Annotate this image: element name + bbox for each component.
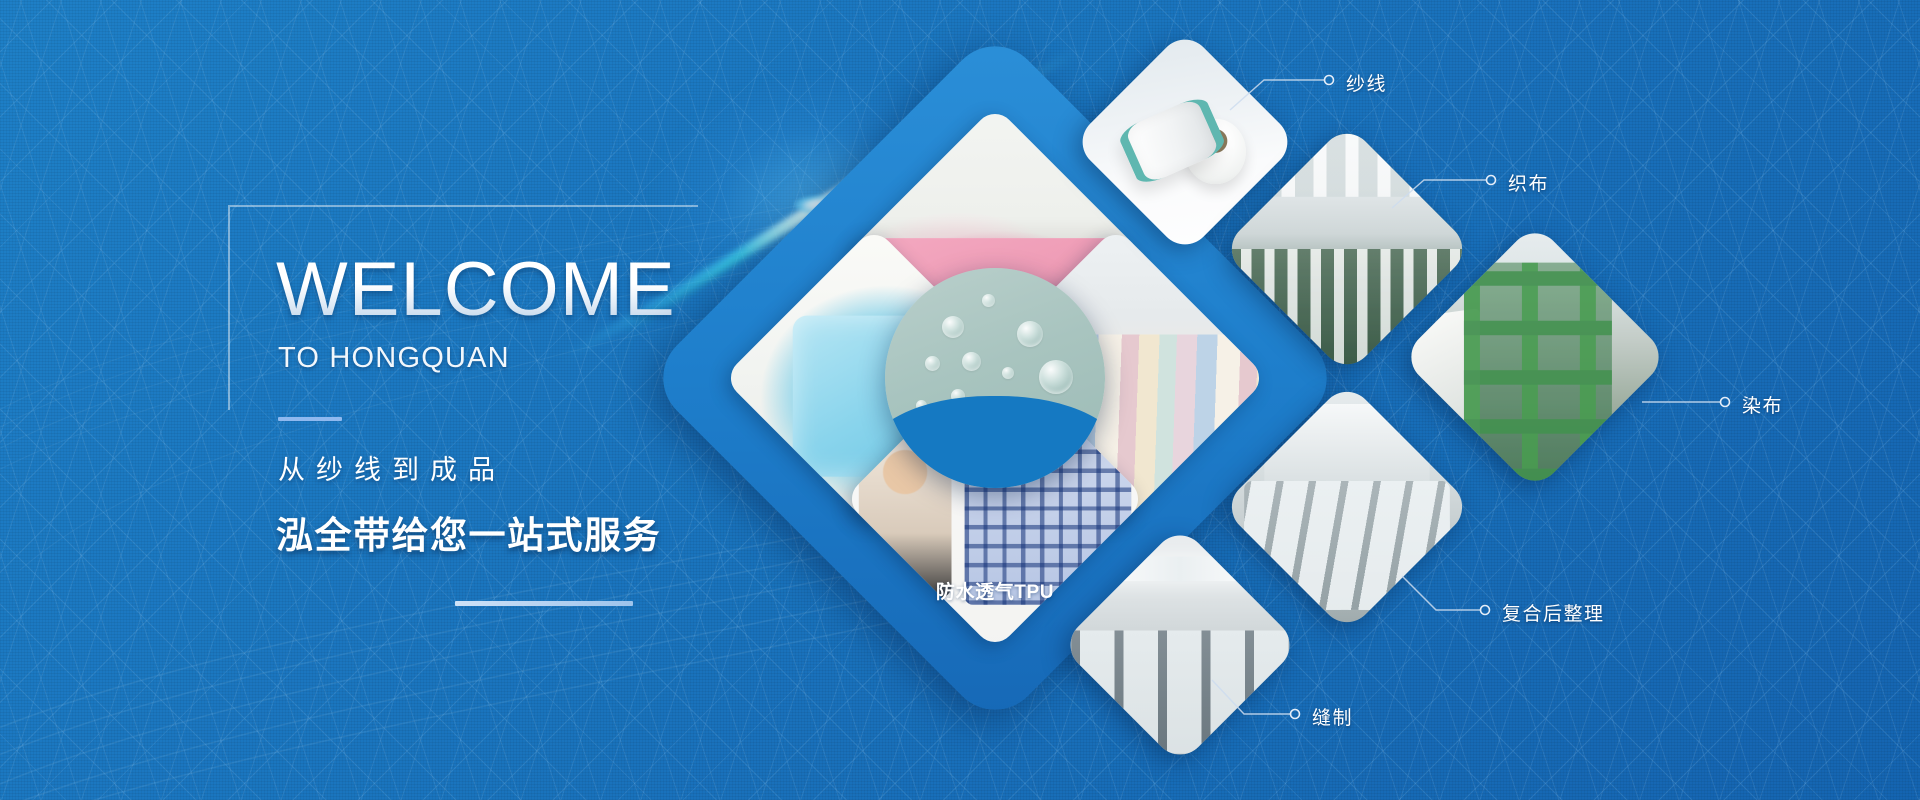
process-tile-dyeing[interactable] xyxy=(1440,262,1630,452)
page-subtitle: TO HONGQUAN xyxy=(278,342,510,375)
tagline-chinese: 从纱线到成品 xyxy=(278,448,506,487)
tpu-badge-label: 防水透气TPU xyxy=(735,577,1255,604)
bottom-divider-rule xyxy=(455,601,633,606)
process-tile-yarn[interactable] xyxy=(1105,62,1265,222)
headline-chinese: 泓全带给您一站式服务 xyxy=(276,505,661,559)
tpu-feature-badge[interactable] xyxy=(885,268,1105,488)
process-tile-weaving[interactable] xyxy=(1258,160,1436,338)
accent-rule xyxy=(278,417,342,421)
welcome-banner: WELCOME TO HONGQUAN 从纱线到成品 泓全带给您一站式服务 xyxy=(0,0,1920,800)
process-tile-lamination[interactable] xyxy=(1258,418,1436,596)
page-title: WELCOME xyxy=(276,252,676,328)
